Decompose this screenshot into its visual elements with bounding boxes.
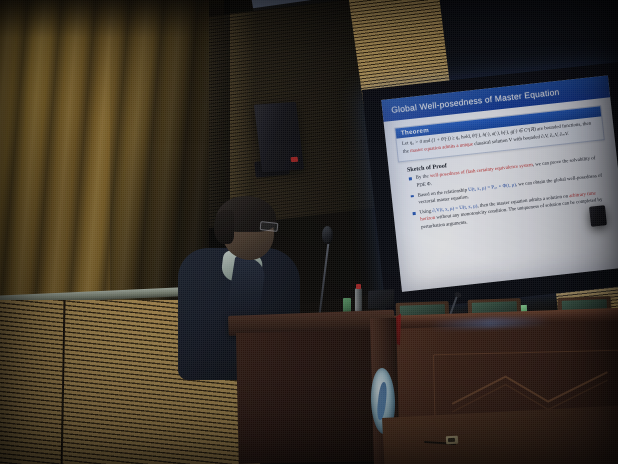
laptop-icon — [368, 289, 395, 309]
bullet2-math: U(t, x, μ) = P₀ₓ ∘ Φ(t, μ) — [468, 183, 516, 193]
wall-speaker-icon — [254, 102, 304, 172]
wall-speaker-right-icon — [589, 205, 607, 227]
water-bottle-icon — [355, 288, 362, 312]
presenter-hair-side — [214, 210, 234, 244]
projection-screen[interactable]: Global Well-posedness of Master Equation… — [362, 62, 618, 312]
theorem-l1-math2: (1 + θ'(·)) ≥ η₀ — [431, 136, 460, 144]
bullet1-pre: By the — [416, 174, 431, 180]
floor-power-outlet — [446, 436, 458, 445]
theorem-l1-math: η₀ > 0 — [410, 140, 423, 146]
glasses-icon — [260, 221, 279, 232]
curtain-top-shadow — [0, 0, 224, 38]
microphone-icon — [322, 226, 333, 244]
podium-body — [236, 330, 387, 464]
bullet3-pre: Using — [419, 209, 432, 215]
theorem-l1c: hold, — [460, 134, 473, 140]
theorem-l3-math: ∂ₓV, ∂ₓₓV, ∂ₘV. — [541, 132, 569, 140]
lecture-hall-photo: Global Well-posedness of Master Equation… — [0, 0, 618, 464]
theorem-l1b: and — [422, 139, 432, 145]
projected-slide: Global Well-posedness of Master Equation… — [381, 75, 618, 291]
